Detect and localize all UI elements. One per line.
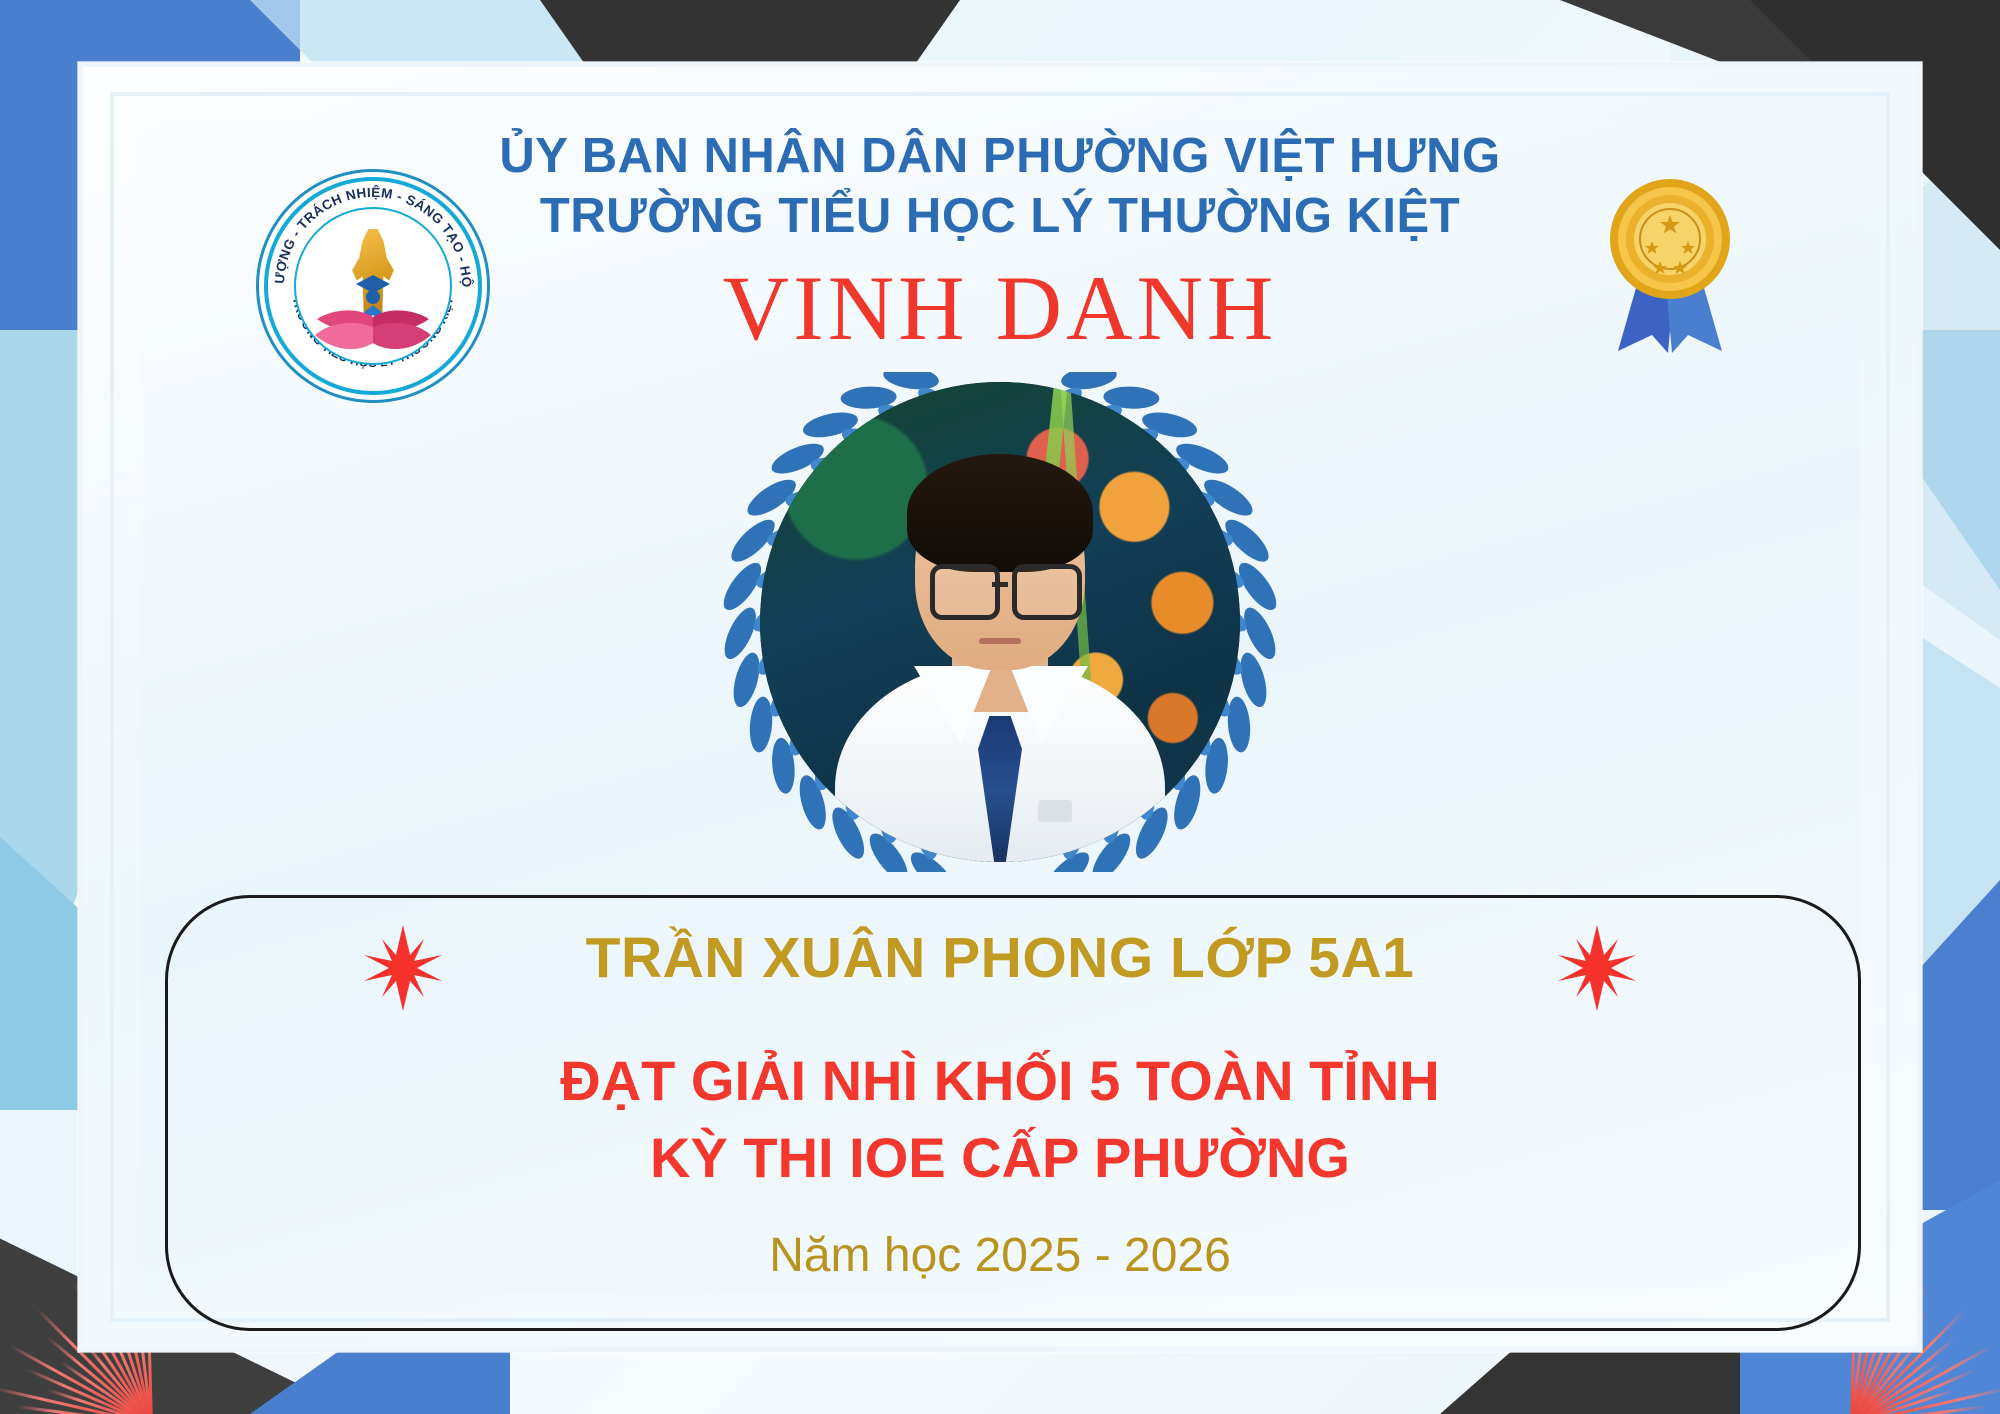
school-year: Năm học 2025 - 2026 bbox=[0, 1228, 2000, 1283]
award-line-1: ĐẠT GIẢI NHÌ KHỐI 5 TOÀN TỈNH bbox=[0, 1048, 2000, 1113]
organization-line-1: ỦY BAN NHÂN DÂN PHƯỜNG VIỆT HƯNG bbox=[300, 128, 1700, 184]
portrait-section bbox=[720, 382, 1280, 882]
student-photo bbox=[760, 382, 1240, 862]
award-line-2: KỲ THI IOE CẤP PHƯỜNG bbox=[0, 1125, 2000, 1190]
organization-line-2: TRƯỜNG TIỂU HỌC LÝ THƯỜNG KIỆT bbox=[300, 188, 1700, 244]
certificate-content: CHẤT LƯỢNG - TRÁCH NHIỆM - SÁNG TẠO - HỘ… bbox=[0, 0, 2000, 1414]
certificate: CHẤT LƯỢNG - TRÁCH NHIỆM - SÁNG TẠO - HỘ… bbox=[0, 0, 2000, 1414]
student-name: TRẦN XUÂN PHONG LỚP 5A1 bbox=[0, 925, 2000, 991]
page-title: VINH DANH bbox=[0, 255, 2000, 361]
